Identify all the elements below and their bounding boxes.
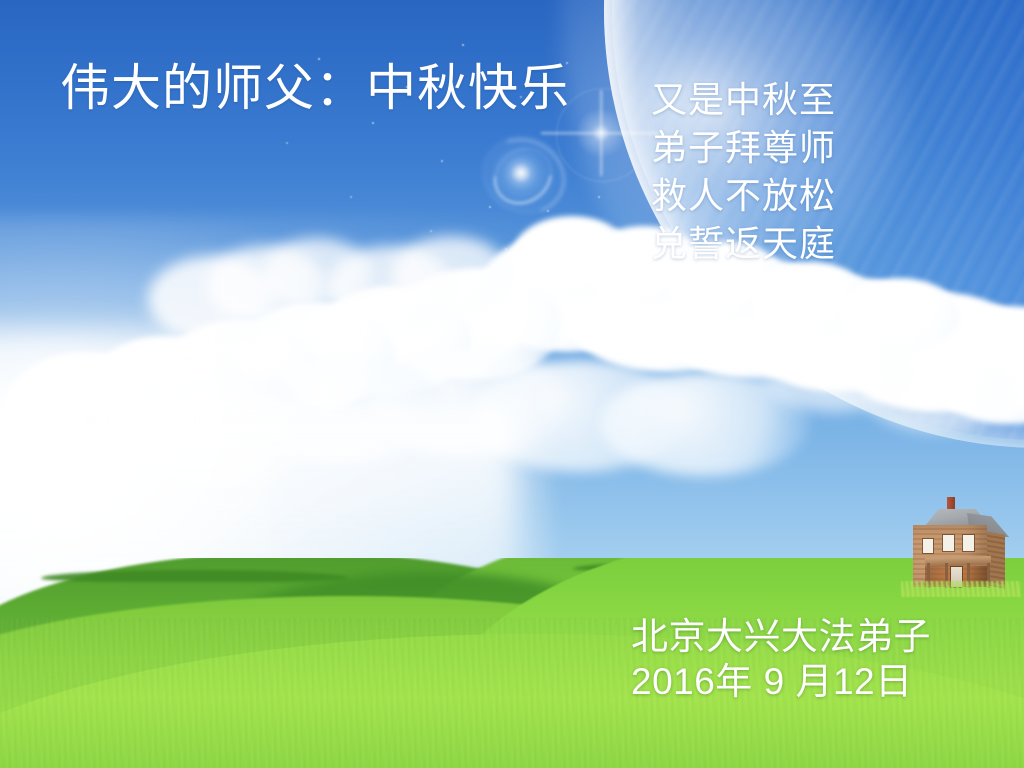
window-upper-left bbox=[923, 539, 933, 553]
greeting-card-slide: 伟大的师父：中秋快乐 又是中秋至 弟子拜尊师 救人不放松 兑誓返天庭 北京大兴大… bbox=[0, 0, 1024, 768]
poem-line-3: 救人不放松 bbox=[651, 172, 836, 220]
window-upper-mid bbox=[943, 535, 954, 551]
credit-block: 北京大兴大法弟子 2016年 9 月12日 bbox=[631, 614, 931, 704]
farmhouse bbox=[905, 495, 1015, 595]
poem-line-4: 兑誓返天庭 bbox=[651, 220, 836, 268]
treeline-left bbox=[41, 570, 348, 582]
credit-author: 北京大兴大法弟子 bbox=[631, 614, 931, 659]
grass-at-house bbox=[901, 581, 1021, 597]
page-title: 伟大的师父：中秋快乐 bbox=[60, 63, 570, 113]
window-upper-right bbox=[963, 535, 974, 551]
poem-block: 又是中秋至 弟子拜尊师 救人不放松 兑誓返天庭 bbox=[651, 76, 836, 268]
poem-line-2: 弟子拜尊师 bbox=[651, 124, 836, 172]
credit-date: 2016年 9 月12日 bbox=[631, 659, 931, 704]
poem-line-1: 又是中秋至 bbox=[651, 76, 836, 124]
